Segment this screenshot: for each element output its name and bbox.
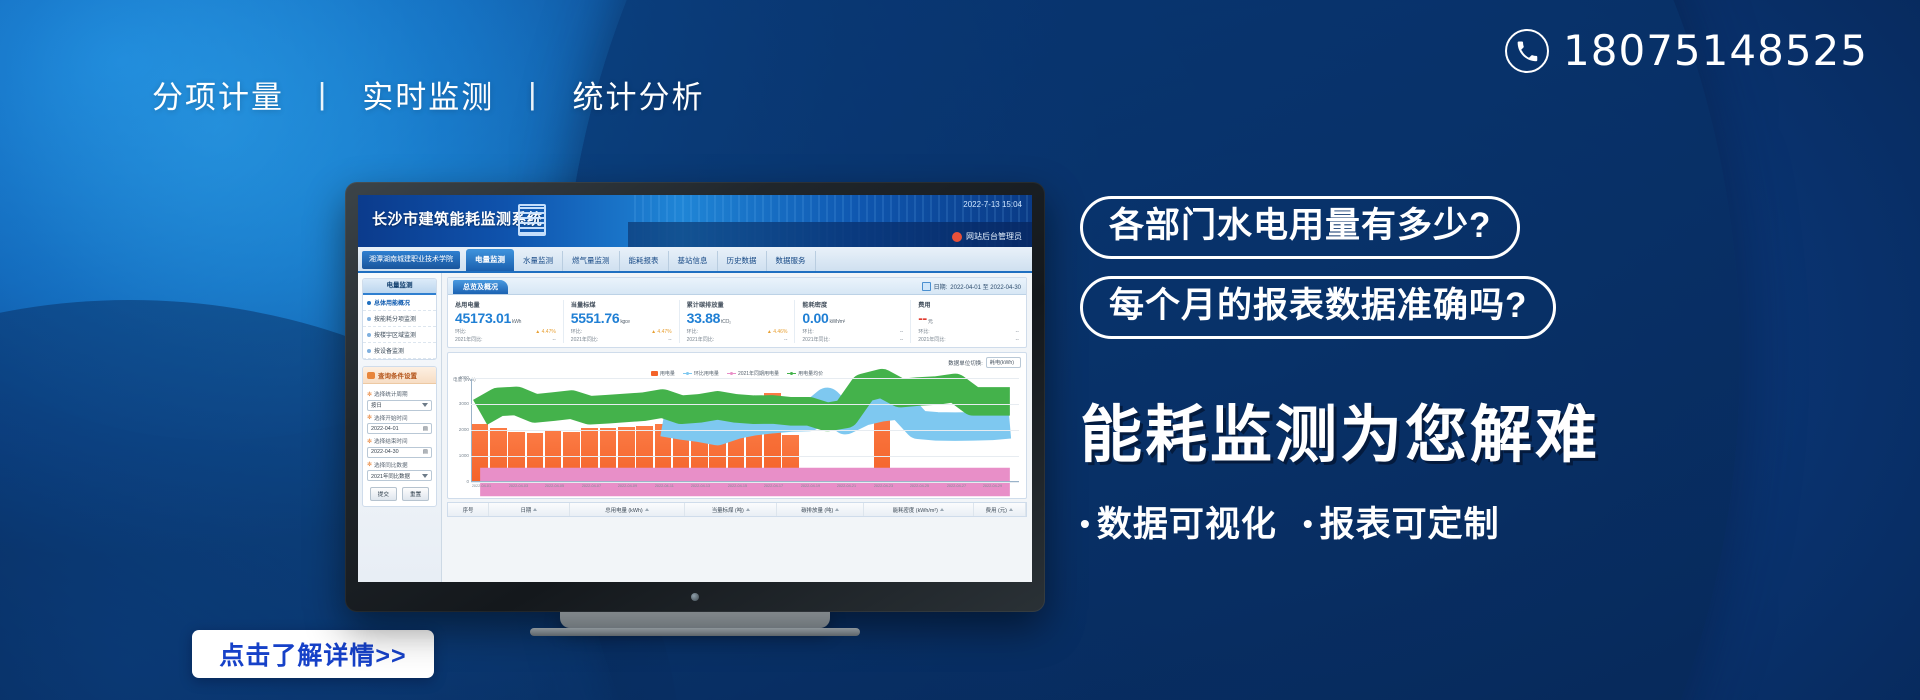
- kpi-mom-label: 环比:: [918, 328, 929, 335]
- table-column-header[interactable]: 日期: [489, 503, 570, 516]
- slogan-part-2: 实时监测: [362, 80, 494, 115]
- legend-line: [787, 373, 796, 374]
- table-column-header[interactable]: 总用电量 (kWh): [570, 503, 685, 516]
- table-column-header[interactable]: 费用 (元): [974, 503, 1026, 516]
- sort-icon[interactable]: [1009, 508, 1013, 511]
- chart-unit-switch: 数据单位切换: 耗电(kWh): [453, 357, 1021, 368]
- kpi-mom-label: 环比:: [455, 328, 466, 335]
- app-main: 总览及概况 日期: 2022-04-01 至 2022-04-30 总用电量45…: [442, 273, 1032, 582]
- x-tick-label: [529, 484, 543, 496]
- tab-stations[interactable]: 基站信息: [669, 251, 718, 271]
- x-tick-label: 2022-04-09: [618, 484, 637, 496]
- kpi-yoy: 2021年同比:--: [571, 336, 672, 343]
- sidebar-item-overview[interactable]: 总体用能概况: [363, 295, 436, 311]
- table-column-header[interactable]: 当量标煤 (吨): [685, 503, 777, 516]
- kpi-value: 0.00kWh/m²: [802, 311, 903, 325]
- legend-label: 2021年同期用电量: [738, 370, 779, 377]
- data-table: 序号日期总用电量 (kWh)当量标煤 (吨)碳排放量 (吨)能耗密度 (kWh/…: [447, 502, 1027, 517]
- y-tick-label: 2000: [453, 427, 469, 432]
- x-tick-label: 2022-04-05: [545, 484, 564, 496]
- kpi-yoy-label: 2021年同比:: [687, 336, 715, 343]
- tab-gas[interactable]: 燃气量监测: [563, 251, 620, 271]
- building-icon: [518, 204, 546, 236]
- kpi-yoy-label: 2021年同比:: [455, 336, 483, 343]
- kpi-value: --元: [918, 311, 1019, 325]
- column-label: 序号: [463, 506, 474, 514]
- query-buttons: 提交 重置: [367, 487, 432, 501]
- kpi-card: 总用电量45173.01kWh环比:▲ 4.47%2021年同比:--: [448, 300, 564, 343]
- app-tabbar: 湘潭湖南城建职业技术学院 电量监测 水量监测 燃气量监测 能耗报表 基站信息 历…: [358, 247, 1032, 273]
- query-panel-body: ✻选择统计周期 按日 ✻选择开始时间 2022-04-01▤ ✻选择结束时间 2…: [363, 384, 436, 506]
- kpi-mom: 环比:--: [802, 328, 903, 335]
- legend-swatch: [651, 371, 658, 376]
- kpi-mom-label: 环比:: [802, 328, 813, 335]
- kpi-mom-label: 环比:: [571, 328, 582, 335]
- slogan-part-3: 统计分析: [573, 80, 705, 115]
- x-tick-label: 2022-04-15: [727, 484, 746, 496]
- x-tick-label: 2022-04-11: [655, 484, 674, 496]
- gridline: [471, 430, 1019, 431]
- sort-icon[interactable]: [645, 508, 649, 511]
- x-tick-label: [602, 484, 616, 496]
- table-column-header[interactable]: 碳排放量 (吨): [777, 503, 864, 516]
- kpi-yoy: 2021年同比:--: [918, 336, 1019, 343]
- sidebar-nav-card: 电量监测 总体用能概况 按能耗分项监测 按楼宇区域监测: [362, 278, 437, 360]
- x-tick-label: 2022-04-27: [947, 484, 966, 496]
- slogan-separator-2: 丨: [505, 72, 562, 117]
- tab-reports[interactable]: 能耗报表: [620, 251, 669, 271]
- monitor-screen: 长沙市建筑能耗监测系统 2022-7-13 15:04 网站后台管理员 湘潭湖南…: [358, 195, 1032, 582]
- question-pill-2: 每个月的报表数据准确吗?: [1080, 276, 1556, 339]
- column-label: 总用电量 (kWh): [605, 506, 642, 514]
- tab-history[interactable]: 历史数据: [718, 251, 767, 271]
- x-tick-label: [712, 484, 726, 496]
- app-header: 长沙市建筑能耗监测系统 2022-7-13 15:04 网站后台管理员: [358, 195, 1032, 247]
- calendar-icon: [922, 282, 931, 291]
- user-avatar-icon: [952, 232, 962, 242]
- slogan-separator-1: 丨: [295, 72, 352, 117]
- kpi-yoy-value: --: [1016, 337, 1019, 343]
- filter-icon: [367, 372, 375, 379]
- kpi-unit: kWh/m²: [829, 319, 844, 325]
- query-panel: 查询条件设置 ✻选择统计周期 按日 ✻选择开始时间 2022-04-01▤ ✻选…: [362, 366, 437, 507]
- x-tick-label: 2022-04-13: [691, 484, 710, 496]
- x-tick-label: [967, 484, 981, 496]
- date-range: 2022-04-01 至 2022-04-30: [950, 282, 1021, 291]
- calendar-icon: ▤: [423, 449, 428, 455]
- kpi-value: 45173.01kWh: [455, 311, 556, 325]
- table-column-header[interactable]: 能耗密度 (kWh/m²): [864, 503, 974, 516]
- question-pill-1: 各部门水电用量有多少?: [1080, 196, 1520, 259]
- phone-number: 18075148525: [1563, 26, 1868, 75]
- kpi-mom-value: --: [1016, 329, 1019, 335]
- app-title: 长沙市建筑能耗监测系统: [372, 208, 543, 229]
- x-tick-label: 2022-04-25: [910, 484, 929, 496]
- kpi-unit: 元: [928, 319, 933, 325]
- sidebar-item-label: 按能耗分项监测: [374, 314, 416, 323]
- bullet-icon: [367, 333, 371, 337]
- sort-icon[interactable]: [940, 508, 944, 511]
- overview-panel-title: 总览及概况: [453, 280, 508, 294]
- kpi-title: 总用电量: [455, 300, 556, 309]
- slogan-part-1: 分项计量: [152, 80, 284, 115]
- bullet-text-1: 数据可视化: [1097, 505, 1277, 544]
- sidebar-item-label: 总体用能概况: [374, 298, 410, 307]
- kpi-yoy: 2021年同比:--: [802, 336, 903, 343]
- kpi-mom-label: 环比:: [687, 328, 698, 335]
- legend-item[interactable]: 用电量均价: [787, 370, 823, 377]
- gridline: [471, 482, 1019, 483]
- right-copy-column: 各部门水电用量有多少? 每个月的报表数据准确吗? 能耗监测为您解难 •数据可视化…: [1080, 196, 1700, 547]
- x-tick-label: [639, 484, 653, 496]
- column-label: 当量标煤 (吨): [712, 506, 744, 514]
- chart-panel: 数据单位切换: 耗电(kWh) 用电量环比用电量2021年同期用电量用电量均价 …: [447, 352, 1027, 499]
- tab-data-service[interactable]: 数据服务: [767, 251, 816, 271]
- app-body: 电量监测 总体用能概况 按能耗分项监测 按楼宇区域监测: [358, 273, 1032, 582]
- kpi-unit: tCO₂: [721, 319, 731, 325]
- monitor-mockup: 长沙市建筑能耗监测系统 2022-7-13 15:04 网站后台管理员 湘潭湖南…: [345, 182, 1045, 612]
- y-tick-label: 4000: [453, 375, 469, 380]
- x-tick-label: [821, 484, 835, 496]
- yoy-select[interactable]: 2021年同比数据: [367, 470, 432, 481]
- x-tick-label: [675, 484, 689, 496]
- x-tick-label: [858, 484, 872, 496]
- sidebar-header: 电量监测: [363, 279, 436, 295]
- x-tick-label: [566, 484, 580, 496]
- kpi-mom-value: --: [900, 329, 903, 335]
- phone-circle-icon: [1505, 29, 1549, 73]
- table-header-row: 序号日期总用电量 (kWh)当量标煤 (吨)碳排放量 (吨)能耗密度 (kWh/…: [448, 503, 1026, 516]
- gridline: [471, 378, 1019, 379]
- kpi-yoy-value: --: [900, 337, 903, 343]
- x-tick-label: [1004, 484, 1018, 496]
- x-tick-label: [785, 484, 799, 496]
- date-range-display: 日期: 2022-04-01 至 2022-04-30: [922, 282, 1021, 291]
- column-label: 费用 (元): [986, 506, 1007, 514]
- kpi-mom: 环比:--: [918, 328, 1019, 335]
- x-tick-label: 2022-04-23: [874, 484, 893, 496]
- org-tab[interactable]: 湘潭湖南城建职业技术学院: [362, 251, 460, 269]
- monitor-stand-base: [530, 628, 860, 636]
- bullet-dot-1: •: [1080, 508, 1097, 539]
- bullet-icon: [367, 349, 371, 353]
- period-value: 按日: [371, 401, 382, 409]
- sort-icon[interactable]: [533, 508, 537, 511]
- kpi-row: 总用电量45173.01kWh环比:▲ 4.47%2021年同比:--当量标煤5…: [448, 295, 1026, 347]
- kpi-mom: 环比:▲ 4.46%: [687, 328, 788, 335]
- kpi-yoy-value: --: [668, 337, 671, 343]
- chart-plot: 电量 (kWh) 2022-04-012022-04-032022-04-052…: [453, 378, 1021, 496]
- overview-panel: 总览及概况 日期: 2022-04-01 至 2022-04-30 总用电量45…: [447, 277, 1027, 348]
- query-panel-header: 查询条件设置: [363, 367, 436, 384]
- bullet-icon: [367, 317, 371, 321]
- app-sidebar: 电量监测 总体用能概况 按能耗分项监测 按楼宇区域监测: [358, 273, 442, 582]
- kpi-value: 5551.76kgce: [571, 311, 672, 325]
- x-tick-label: 2022-04-19: [800, 484, 819, 496]
- app-user[interactable]: 网站后台管理员: [952, 231, 1022, 242]
- calendar-icon: ▤: [423, 426, 428, 432]
- kpi-yoy: 2021年同比:--: [455, 336, 556, 343]
- kpi-mom-value: ▲ 4.47%: [651, 329, 672, 335]
- chevron-down-icon: [422, 403, 428, 407]
- x-tick-label: [931, 484, 945, 496]
- start-date-value: 2022-04-01: [371, 426, 399, 432]
- legend-line: [683, 373, 692, 374]
- tab-water[interactable]: 水量监测: [514, 251, 563, 271]
- legend-item[interactable]: 环比用电量: [683, 370, 719, 377]
- field-label-period: ✻选择统计周期: [367, 390, 432, 398]
- legend-label: 环比用电量: [694, 370, 719, 377]
- promo-banner: 分项计量 丨 实时监测 丨 统计分析 18075148525 各部门水电用量有多…: [0, 0, 1920, 700]
- monitor-stand-neck: [560, 612, 830, 628]
- column-label: 碳排放量 (吨): [801, 506, 833, 514]
- kpi-mom: 环比:▲ 4.47%: [571, 328, 672, 335]
- sort-icon[interactable]: [835, 508, 839, 511]
- kpi-yoy-label: 2021年同比:: [918, 336, 946, 343]
- kpi-title: 费用: [918, 300, 1019, 309]
- feature-bullets: •数据可视化•报表可定制: [1080, 496, 1700, 547]
- kpi-yoy-value: --: [552, 337, 555, 343]
- kpi-title: 能耗密度: [802, 300, 903, 309]
- kpi-card: 当量标煤5551.76kgce环比:▲ 4.47%2021年同比:--: [564, 300, 680, 343]
- app-user-label: 网站后台管理员: [966, 231, 1022, 242]
- kpi-card: 能耗密度0.00kWh/m²环比:--2021年同比:--: [795, 300, 911, 343]
- x-tick-label: 2022-04-03: [508, 484, 527, 496]
- kpi-mom-value: ▲ 4.47%: [535, 329, 556, 335]
- kpi-title: 当量标煤: [571, 300, 672, 309]
- slogan: 分项计量 丨 实时监测 丨 统计分析: [152, 72, 705, 117]
- sidebar-item-by-building[interactable]: 按楼宇区域监测: [363, 327, 436, 343]
- table-column-header[interactable]: 序号: [448, 503, 489, 516]
- bullet-dot-2: •: [1303, 508, 1320, 539]
- legend-line: [727, 373, 736, 374]
- x-tick-label: [894, 484, 908, 496]
- end-date-input[interactable]: 2022-04-30▤: [367, 447, 432, 458]
- sort-icon[interactable]: [746, 508, 750, 511]
- legend-item[interactable]: 用电量: [651, 370, 675, 377]
- field-label-end: ✻选择结束时间: [367, 437, 432, 445]
- y-tick-label: 3000: [453, 401, 469, 406]
- x-tick-label: 2022-04-01: [472, 484, 491, 496]
- phone-contact[interactable]: 18075148525: [1505, 26, 1868, 75]
- kpi-title: 累计碳排放量: [687, 300, 788, 309]
- overview-panel-header: 总览及概况 日期: 2022-04-01 至 2022-04-30: [448, 278, 1026, 295]
- query-panel-title: 查询条件设置: [378, 370, 417, 380]
- kpi-yoy-value: --: [784, 337, 787, 343]
- field-label-start: ✻选择开始时间: [367, 414, 432, 422]
- sidebar-item-label: 按楼宇区域监测: [374, 330, 416, 339]
- kpi-mom: 环比:▲ 4.47%: [455, 328, 556, 335]
- x-tick-label: 2022-04-21: [837, 484, 856, 496]
- headline: 能耗监测为您解难: [1080, 384, 1700, 474]
- y-tick-label: 1000: [453, 453, 469, 458]
- chart-unit-label: 数据单位切换:: [948, 359, 983, 367]
- chevron-down-icon: [422, 474, 428, 478]
- start-date-input[interactable]: 2022-04-01▤: [367, 423, 432, 434]
- x-tick-labels: 2022-04-012022-04-032022-04-052022-04-07…: [471, 483, 1019, 496]
- kpi-card: 累计碳排放量33.88tCO₂环比:▲ 4.46%2021年同比:--: [680, 300, 796, 343]
- bullet-text-2: 报表可定制: [1320, 505, 1500, 544]
- kpi-value: 33.88tCO₂: [687, 311, 788, 325]
- legend-label: 用电量: [660, 370, 675, 377]
- kpi-unit: kgce: [620, 319, 629, 325]
- kpi-yoy: 2021年同比:--: [687, 336, 788, 343]
- gridline: [471, 456, 1019, 457]
- x-tick-label: 2022-04-07: [581, 484, 600, 496]
- x-tick-label: [748, 484, 762, 496]
- submit-button[interactable]: 提交: [370, 487, 397, 501]
- bullet-icon: [367, 301, 371, 305]
- end-date-value: 2022-04-30: [371, 449, 399, 455]
- legend-item[interactable]: 2021年同期用电量: [727, 370, 779, 377]
- kpi-unit: kWh: [512, 319, 521, 325]
- chart-unit-select[interactable]: 耗电(kWh): [986, 357, 1021, 368]
- yoy-value: 2021年同比数据: [371, 472, 410, 480]
- column-label: 日期: [521, 506, 532, 514]
- column-label: 能耗密度 (kWh/m²): [893, 506, 938, 514]
- kpi-card: 费用--元环比:--2021年同比:--: [911, 300, 1026, 343]
- kpi-yoy-label: 2021年同比:: [802, 336, 830, 343]
- sidebar-item-by-device[interactable]: 按设备监测: [363, 343, 436, 359]
- kpi-mom-value: ▲ 4.46%: [767, 329, 788, 335]
- x-tick-label: 2022-04-17: [764, 484, 783, 496]
- period-select[interactable]: 按日: [367, 400, 432, 411]
- x-tick-label: [493, 484, 507, 496]
- kpi-yoy-label: 2021年同比:: [571, 336, 599, 343]
- sidebar-item-by-category[interactable]: 按能耗分项监测: [363, 311, 436, 327]
- reset-button[interactable]: 重置: [402, 487, 429, 501]
- legend-label: 用电量均价: [798, 370, 823, 377]
- date-label: 日期:: [934, 282, 948, 291]
- tab-electricity[interactable]: 电量监测: [466, 249, 514, 271]
- learn-more-button[interactable]: 点击了解详情>>: [192, 630, 434, 678]
- x-tick-label: 2022-04-29: [983, 484, 1002, 496]
- sidebar-item-label: 按设备监测: [374, 346, 404, 355]
- gridline: [471, 404, 1019, 405]
- chart-legend: 用电量环比用电量2021年同期用电量用电量均价: [453, 370, 1021, 377]
- app-timestamp: 2022-7-13 15:04: [963, 200, 1022, 209]
- y-tick-label: 0: [453, 479, 469, 484]
- field-label-yoy: ✻选择同比数据: [367, 461, 432, 469]
